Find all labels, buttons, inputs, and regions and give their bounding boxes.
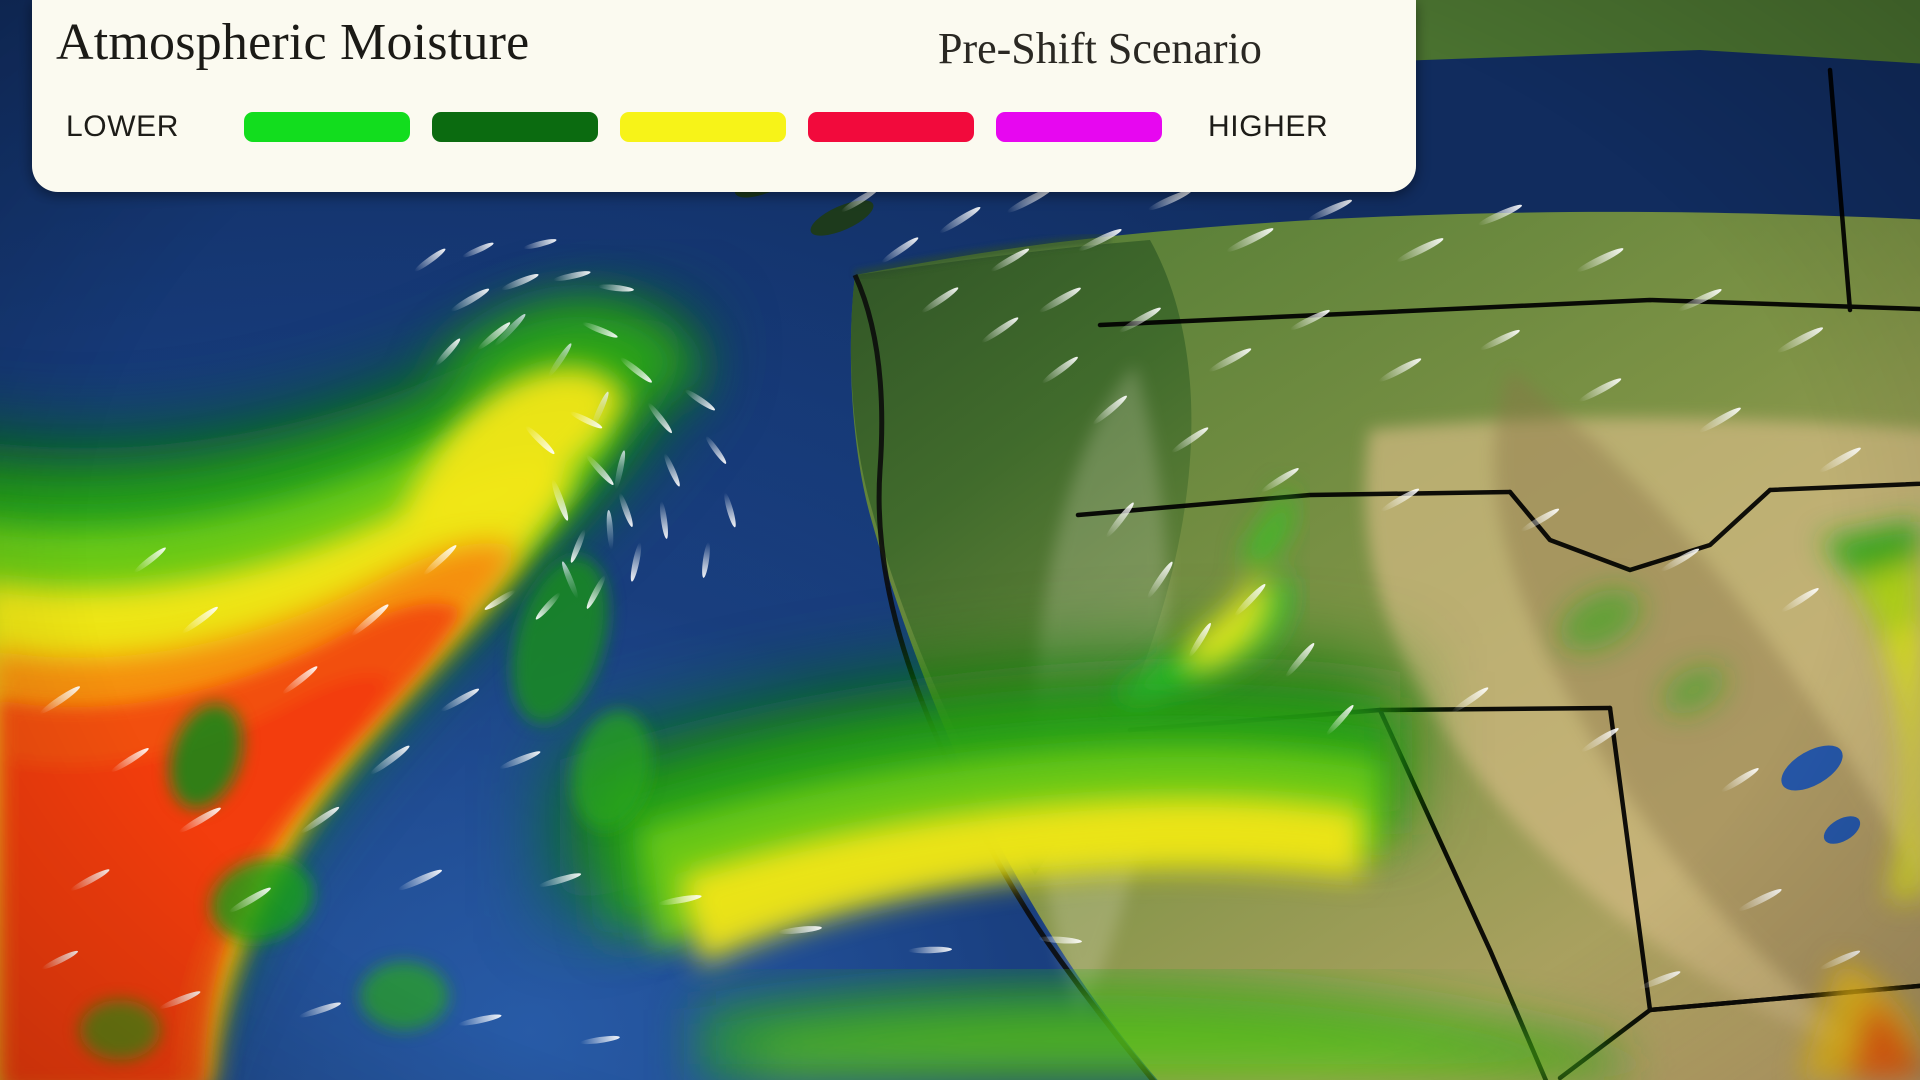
panel-title-row: Atmospheric Moisture Pre-Shift Scenario — [32, 6, 1416, 92]
legend-swatch-bright-green — [244, 112, 410, 142]
legend-swatch-magenta — [996, 112, 1162, 142]
page-title: Atmospheric Moisture — [56, 12, 529, 74]
legend-swatch-dark-green — [432, 112, 598, 142]
legend-swatch-crimson-red — [808, 112, 974, 142]
legend-panel: Atmospheric Moisture Pre-Shift Scenario … — [32, 0, 1416, 192]
legend-high-label: HIGHER — [1208, 106, 1328, 148]
color-legend: LOWER HIGHER — [66, 106, 1328, 148]
weather-visualization-stage: Atmospheric Moisture Pre-Shift Scenario … — [0, 0, 1920, 1080]
scenario-subtitle: Pre-Shift Scenario — [938, 22, 1262, 76]
legend-swatch-group — [244, 112, 1162, 142]
legend-swatch-yellow — [620, 112, 786, 142]
legend-low-label: LOWER — [66, 106, 244, 148]
